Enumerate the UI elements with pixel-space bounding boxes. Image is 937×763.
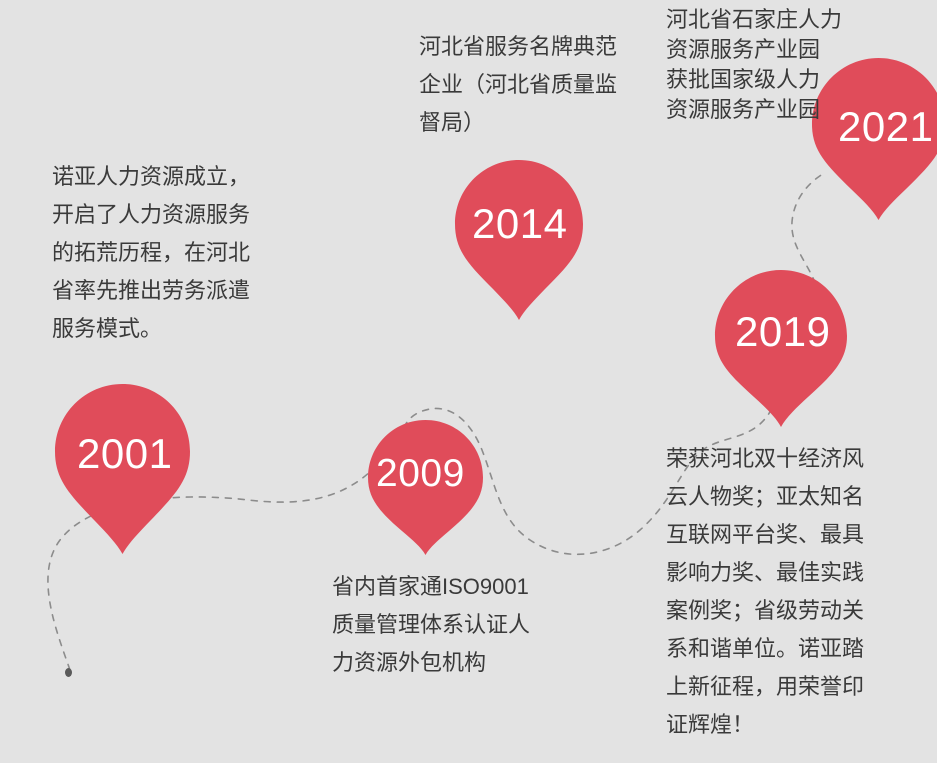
milestone-caption-2021: 河北省石家庄人力 资源服务产业园 获批国家级人力 资源服务产业园 [666,5,886,125]
milestone-caption-2001: 诺亚人力资源成立， 开启了人力资源服务 的拓荒历程，在河北 省率先推出劳务派遣 … [52,158,282,348]
path-start-dot [65,668,72,677]
milestone-year-2019: 2019 [735,308,830,356]
timeline-infographic: 2001 诺亚人力资源成立， 开启了人力资源服务 的拓荒历程，在河北 省率先推出… [0,0,937,763]
milestone-year-2009: 2009 [376,452,465,496]
milestone-year-2014: 2014 [472,200,567,248]
milestone-year-2001: 2001 [77,430,172,478]
milestone-caption-2019: 荣获河北双十经济风 云人物奖；亚太知名 互联网平台奖、最具 影响力奖、最佳实践 … [666,440,916,744]
milestone-caption-2009: 省内首家通ISO9001 质量管理体系认证人 力资源外包机构 [332,568,582,682]
milestone-caption-2014: 河北省服务名牌典范 企业（河北省质量监 督局） [419,28,649,142]
